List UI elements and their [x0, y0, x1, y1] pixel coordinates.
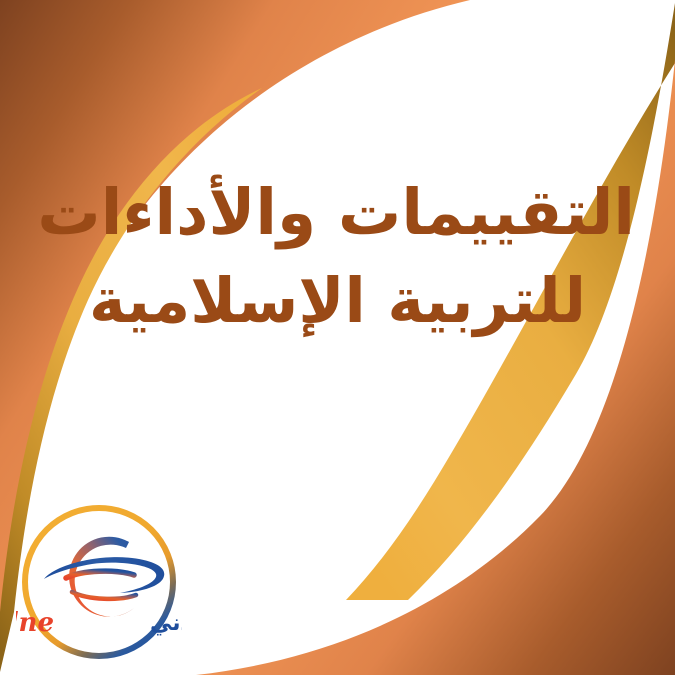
logo-brand-latin: Afedne	[16, 608, 54, 638]
title-line-2: للتربية الإسلامية	[0, 257, 675, 345]
brand-logo[interactable]: Afedne أفدني	[16, 496, 182, 668]
cover-page: التقييمات والأداءات للتربية الإسلامية	[0, 0, 675, 675]
title-line-1: التقييمات والأداءات	[0, 168, 675, 257]
page-title: التقييمات والأداءات للتربية الإسلامية	[0, 168, 675, 345]
logo-brand-arabic: أفدني	[150, 607, 182, 636]
bottom-right-orange-band	[196, 60, 675, 675]
